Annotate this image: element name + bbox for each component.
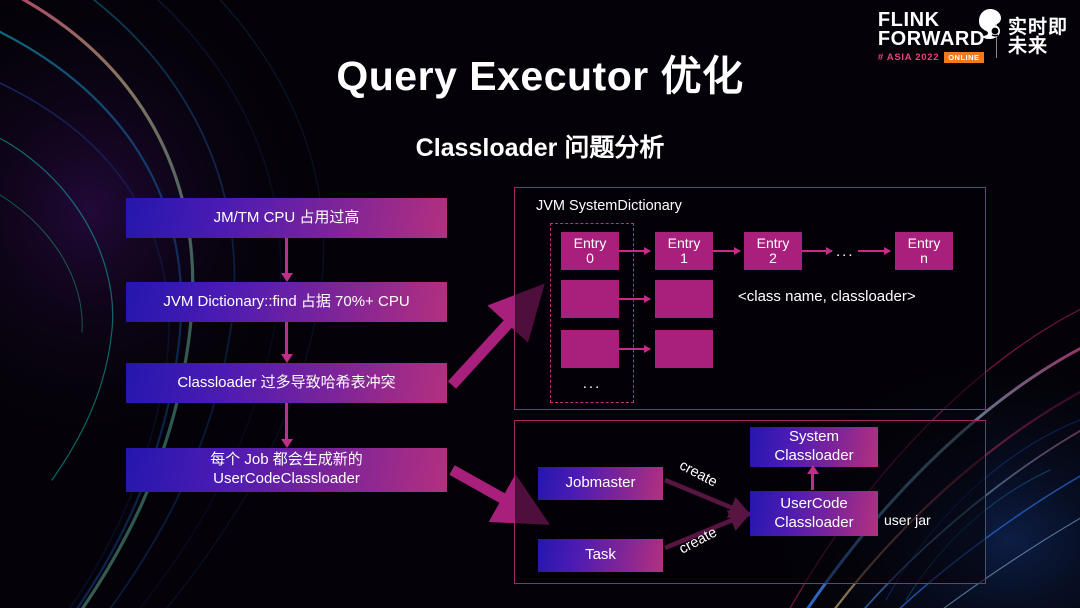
entry-box-n: Entry n (895, 232, 953, 270)
flow-arrow-1 (285, 238, 288, 274)
chain-arrow-1-to-2 (713, 250, 740, 252)
arrow-usercode-to-system (811, 473, 814, 490)
chain-arrow-2-to-ellipsis (802, 250, 832, 252)
class-loader-key-label: <class name, classloader> (738, 288, 916, 305)
chain-arrow-row2 (619, 298, 650, 300)
entry-box-row3-col2 (655, 330, 713, 368)
flow-step-new-usercodeclassloader: 每个 Job 都会生成新的 UserCodeClassloader (126, 448, 447, 492)
dictionary-panel-title: JVM SystemDictionary (536, 198, 682, 214)
chain-arrow-row3 (619, 348, 650, 350)
entry-box-0: Entry 0 (561, 232, 619, 270)
chain-ellipsis: ... (836, 243, 855, 260)
chain-arrow-0-to-1 (619, 250, 650, 252)
flow-step-cpu: JM/TM CPU 占用过高 (126, 198, 447, 238)
system-classloader-box: System Classloader (750, 427, 878, 467)
entry-box-row2-col2 (655, 280, 713, 318)
entry-0-index: 0 (586, 251, 594, 266)
entry-box-2: Entry 2 (744, 232, 802, 270)
entry-0-name: Entry (574, 236, 607, 251)
entry-box-row2-col1 (561, 280, 619, 318)
chain-arrow-ellipsis-to-n (858, 250, 890, 252)
flow-arrow-2 (285, 322, 288, 355)
entry-box-row3-col1 (561, 330, 619, 368)
bucket-ellipsis: ... (550, 375, 634, 392)
flow-step-dictionary-find: JVM Dictionary::find 占据 70%+ CPU (126, 282, 447, 322)
entry-2-name: Entry (757, 236, 790, 251)
page-subtitle: Classloader 问题分析 (0, 128, 1080, 164)
entry-1-index: 1 (680, 251, 688, 266)
logo-cn-line1: 实时即 (1008, 18, 1068, 37)
entry-2-index: 2 (769, 251, 777, 266)
flow-arrow-3 (285, 403, 288, 440)
usercode-classloader-box: UserCode Classloader (750, 491, 878, 536)
task-box: Task (538, 539, 663, 572)
jobmaster-box: Jobmaster (538, 467, 663, 500)
entry-n-name: Entry (908, 236, 941, 251)
entry-n-index: n (920, 251, 928, 266)
page-title: Query Executor 优化 (0, 42, 1080, 102)
user-jar-label: user jar (884, 512, 931, 528)
entry-box-1: Entry 1 (655, 232, 713, 270)
flow-step-hash-collision: Classloader 过多导致哈希表冲突 (126, 363, 447, 403)
slide-canvas: FLINK FORWARD # ASIA 2022 ONLINE 实时即 未来 … (0, 0, 1080, 608)
entry-1-name: Entry (668, 236, 701, 251)
